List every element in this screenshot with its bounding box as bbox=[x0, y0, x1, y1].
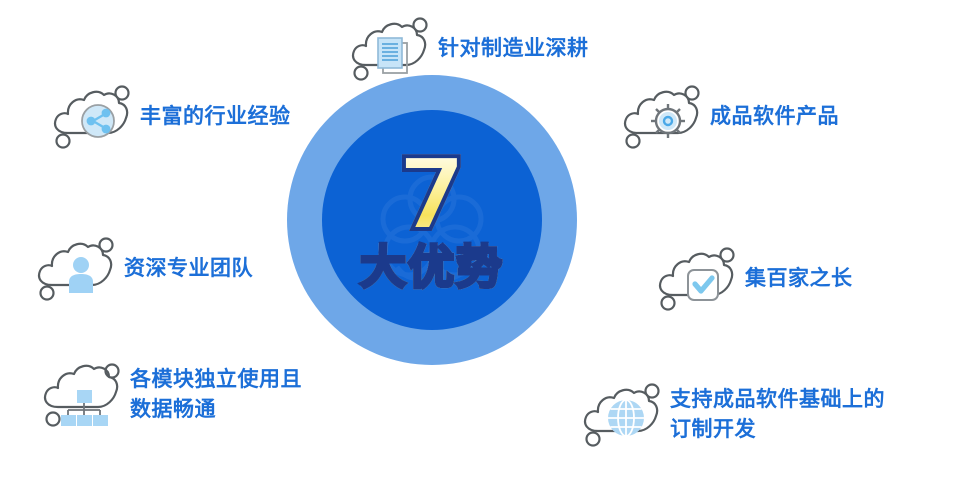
advantage-count: 7 bbox=[397, 149, 467, 241]
feature-label: 各模块独立使用且 数据畅通 bbox=[130, 365, 302, 425]
feature-label: 资深专业团队 bbox=[124, 254, 253, 284]
feature-item-industry-experience[interactable]: 丰富的行业经验 bbox=[50, 84, 291, 150]
feature-label: 集百家之长 bbox=[745, 264, 853, 294]
advantage-label: 大优势 bbox=[360, 243, 504, 291]
cloud-document-icon bbox=[348, 16, 434, 82]
center-circle-group: 7 大优势 bbox=[287, 75, 577, 365]
cloud-checkbox-icon bbox=[655, 246, 741, 312]
feature-item-expert-team[interactable]: 资深专业团队 bbox=[34, 236, 253, 302]
feature-label: 支持成品软件基础上的 订制开发 bbox=[670, 385, 885, 445]
center-text-block: 7 大优势 bbox=[287, 75, 577, 365]
cloud-sitemap-icon bbox=[40, 362, 126, 428]
infographic-canvas: 7 大优势 针对制造业深耕 bbox=[0, 0, 960, 500]
feature-item-modular-independent[interactable]: 各模块独立使用且 数据畅通 bbox=[40, 362, 302, 428]
feature-label: 针对制造业深耕 bbox=[438, 34, 589, 64]
cloud-globe-icon bbox=[580, 382, 666, 448]
feature-label: 成品软件产品 bbox=[710, 102, 839, 132]
feature-item-manufacturing-focus[interactable]: 针对制造业深耕 bbox=[348, 16, 589, 82]
feature-item-best-practices[interactable]: 集百家之长 bbox=[655, 246, 853, 312]
cloud-share-icon bbox=[50, 84, 136, 150]
feature-label: 丰富的行业经验 bbox=[140, 102, 291, 132]
cloud-user-icon bbox=[34, 236, 120, 302]
feature-item-finished-software[interactable]: 成品软件产品 bbox=[620, 84, 839, 150]
feature-item-custom-development[interactable]: 支持成品软件基础上的 订制开发 bbox=[580, 382, 885, 448]
cloud-gear-icon bbox=[620, 84, 706, 150]
